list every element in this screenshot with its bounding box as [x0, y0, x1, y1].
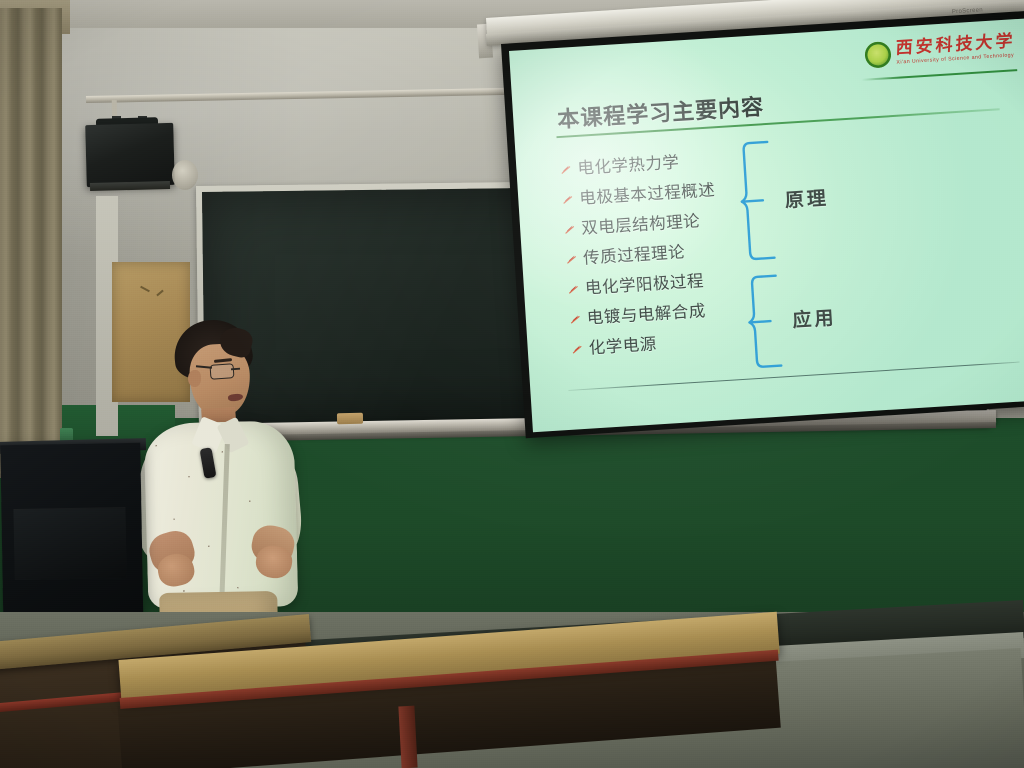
arrow-bullet-icon: [570, 314, 582, 326]
group-label-applications: 应用: [792, 303, 838, 333]
student-desk-leg: [398, 706, 417, 768]
group-brace-applications: [746, 272, 786, 370]
classroom-scene: ProScreen 西安科技大学 Xi'an University of Sci…: [0, 0, 1024, 768]
window-curtain: [0, 8, 62, 478]
slide-title: 本课程学习主要内容: [556, 89, 765, 134]
logo-underline: [861, 69, 1017, 80]
arrow-bullet-icon: [568, 284, 580, 296]
wall-speaker: [85, 123, 175, 187]
arrow-bullet-icon: [572, 344, 584, 356]
arrow-bullet-icon: [562, 194, 574, 206]
bullet-list: 电化学热力学电极基本过程概述双电层结构理论传质过程理论电化学阳极过程电镀与电解合…: [560, 140, 833, 366]
arrow-bullet-icon: [560, 164, 572, 176]
presenter: [128, 320, 328, 650]
university-emblem-icon: [864, 41, 892, 69]
arrow-bullet-icon: [564, 224, 576, 236]
blackboard-eraser: [337, 413, 363, 424]
group-label-principles: 原理: [784, 183, 830, 213]
university-logo: 西安科技大学 Xi'an University of Science and T…: [864, 33, 1016, 68]
slide: 西安科技大学 Xi'an University of Science and T…: [509, 18, 1024, 432]
bullet-label: 电化学热力学: [577, 149, 680, 179]
slide-bottom-rule: [568, 362, 1019, 392]
bullet-label: 传质过程理论: [582, 238, 685, 268]
eyeglasses-icon: [210, 363, 235, 380]
projection-screen[interactable]: 西安科技大学 Xi'an University of Science and T…: [509, 18, 1024, 432]
bullet-label: 化学电源: [588, 330, 657, 358]
arrow-bullet-icon: [566, 254, 578, 266]
lectern-panel: [13, 507, 126, 580]
wall-fixture: [172, 160, 198, 190]
presenter-ear: [188, 370, 201, 387]
